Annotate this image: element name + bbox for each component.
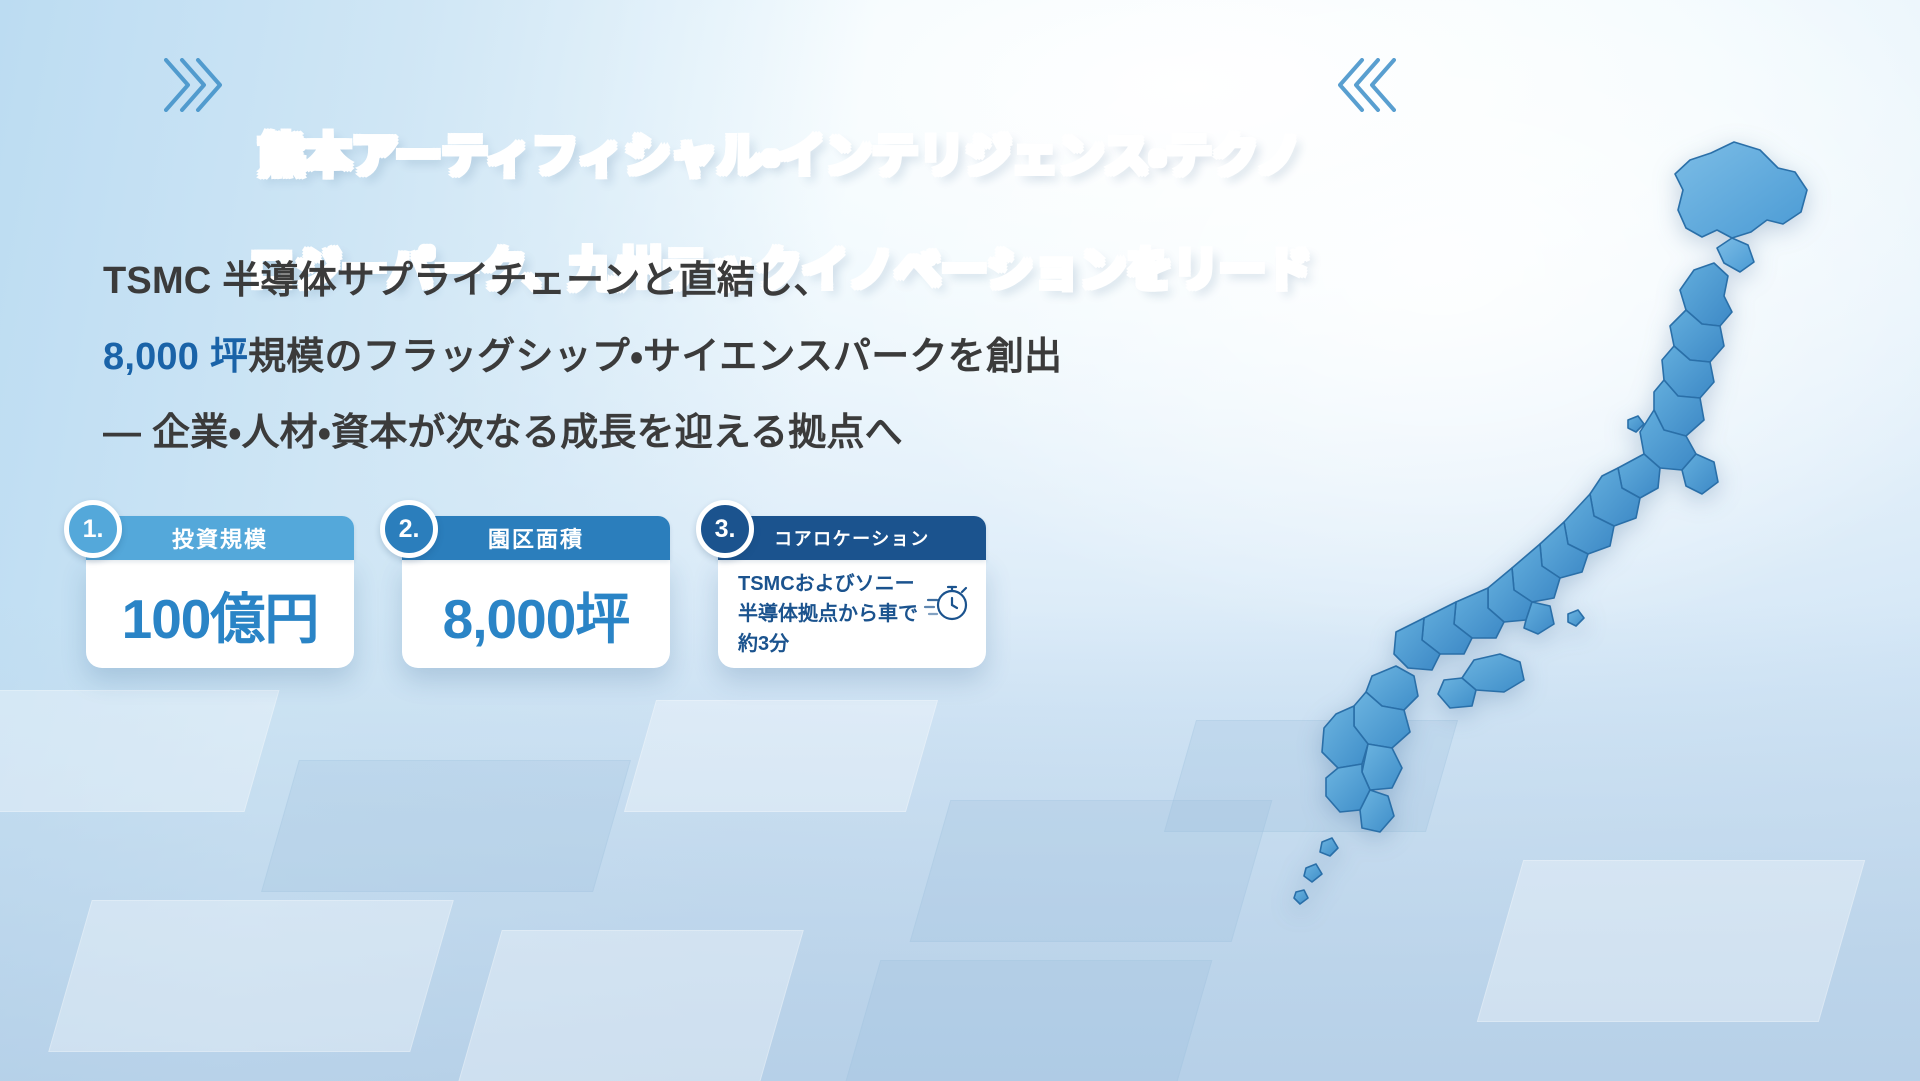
- stat-card-badge: 1.: [64, 500, 122, 558]
- copy-highlight-area: 8,000 坪: [103, 336, 248, 378]
- stat-card-value: 100億円: [122, 574, 319, 654]
- stat-card-body: 100億円: [86, 560, 354, 668]
- background-tile: [261, 760, 631, 892]
- stat-card-colocation[interactable]: 3. コアロケーション TSMCおよびソニー半導体拠点から車で約3分: [718, 516, 986, 668]
- copy-line-2-rest: 規模のフラッグシップ・サイエンスパークを創出: [248, 336, 1062, 378]
- background-tile: [0, 690, 279, 812]
- page-title-line-1: 熊本アーティフィシャル・インテリジェンス・テクノ: [248, 127, 1312, 184]
- stat-card-value: TSMCおよびソニー半導体拠点から車で約3分: [718, 569, 928, 659]
- stat-card-heading: コアロケーション: [718, 516, 986, 560]
- background-tile: [840, 960, 1213, 1081]
- stat-card-badge: 2.: [380, 500, 438, 558]
- chevron-double-left-icon: [1338, 52, 1400, 118]
- chevron-double-right-icon: [160, 52, 222, 118]
- stat-card-body: 8,000坪: [402, 560, 670, 668]
- stat-card-badge: 3.: [696, 500, 754, 558]
- stat-card-heading: 投資規模: [86, 516, 354, 560]
- stat-card-list: 1. 投資規模 100億円 2. 園区面積 8,000坪 3. コアロケーション…: [86, 516, 986, 668]
- stat-card-area[interactable]: 2. 園区面積 8,000坪: [402, 516, 670, 668]
- stat-card-body: TSMCおよびソニー半導体拠点から車で約3分: [718, 560, 986, 668]
- copy-line-1: TSMC 半導体サプライチェーンと直結し、: [103, 258, 1103, 305]
- copy-line-3: — 企業・人材・資本が次なる成長を迎える拠点へ: [103, 410, 1103, 457]
- copy-line-2: 8,000 坪規模のフラッグシップ・サイエンスパークを創出: [103, 334, 1103, 381]
- stat-card-investment[interactable]: 1. 投資規模 100億円: [86, 516, 354, 668]
- background-tile: [458, 930, 804, 1081]
- background-tile: [624, 700, 938, 812]
- background-tile: [48, 900, 454, 1052]
- body-copy: TSMC 半導体サプライチェーンと直結し、 8,000 坪規模のフラッグシップ・…: [103, 258, 1103, 457]
- japan-map: [1262, 120, 1902, 910]
- infographic-canvas: 熊本アーティフィシャル・インテリジェンス・テクノ ロジーパーク、九州テックイノベ…: [0, 0, 1920, 1081]
- stat-card-heading: 園区面積: [402, 516, 670, 560]
- stat-card-value: 8,000坪: [443, 574, 630, 654]
- stopwatch-icon: [922, 574, 974, 631]
